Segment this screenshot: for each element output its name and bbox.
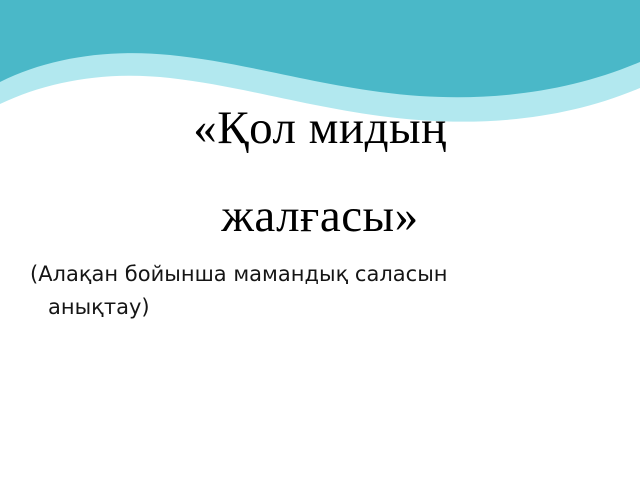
presentation-slide: «Қол мидың жалғасы» (Алақан бойынша мама…	[0, 0, 640, 480]
slide-body-empty-area	[30, 330, 610, 460]
title-line-1: «Қол мидың	[0, 84, 640, 172]
slide-subtitle-text: (Алақан бойынша мамандық саласын анықтау…	[30, 262, 448, 319]
title-line-2: жалғасы»	[0, 172, 640, 260]
slide-title: «Қол мидың жалғасы»	[0, 84, 640, 260]
slide-content: «Қол мидың жалғасы» (Алақан бойынша мама…	[0, 0, 640, 480]
slide-subtitle: (Алақан бойынша мамандық саласын анықтау…	[30, 258, 508, 324]
